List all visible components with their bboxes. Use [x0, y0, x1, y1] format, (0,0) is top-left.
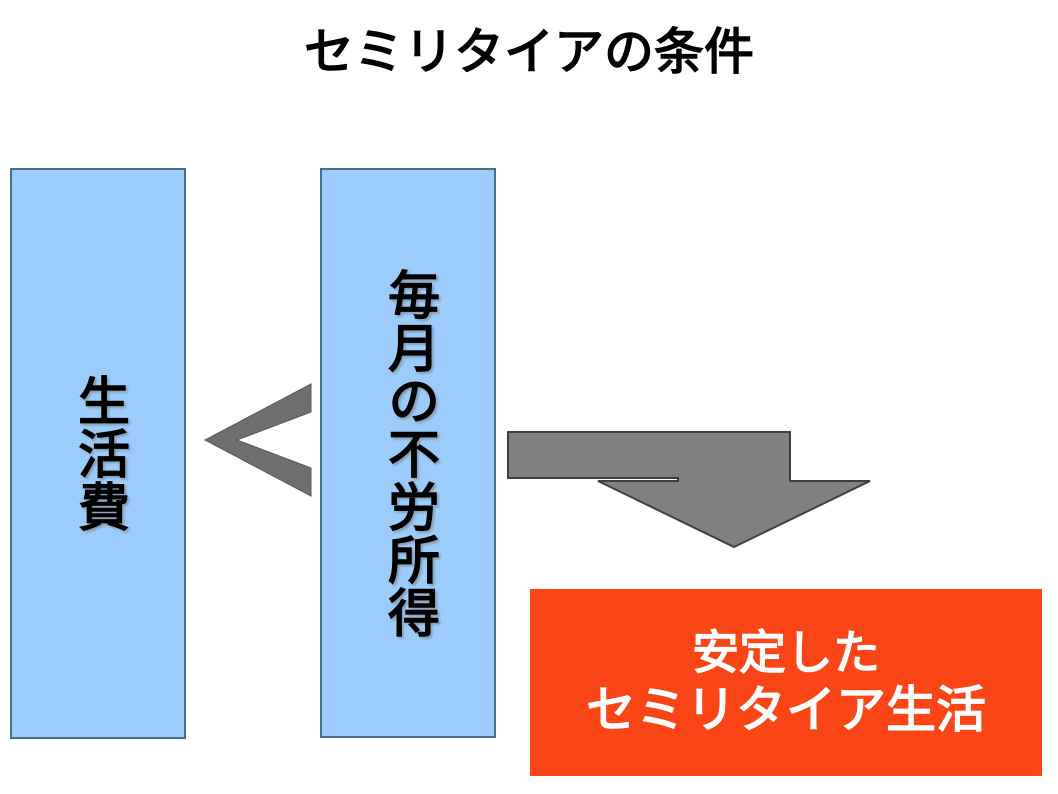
result-line-2: セミリタイア生活 — [586, 681, 986, 740]
passive-income-label: 毎月の不労所得 — [381, 268, 434, 639]
bent-arrow-right-down-icon — [506, 429, 872, 549]
result-box: 安定した セミリタイア生活 — [530, 589, 1042, 776]
less-than-chevron-icon — [203, 382, 315, 498]
living-cost-box: 生活費 — [10, 168, 186, 739]
page-title: セミリタイアの条件 — [0, 22, 1058, 82]
passive-income-box: 毎月の不労所得 — [320, 168, 496, 738]
living-cost-label: 生活費 — [71, 374, 124, 533]
result-line-1: 安定した — [692, 625, 880, 680]
